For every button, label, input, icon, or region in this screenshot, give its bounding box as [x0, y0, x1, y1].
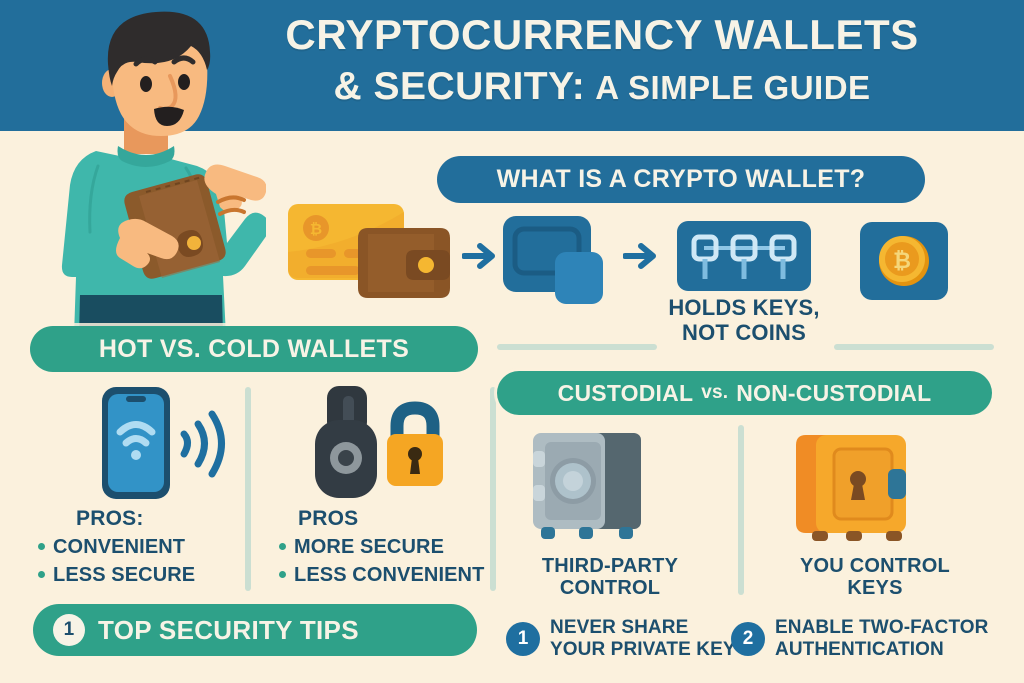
divider-vertical-custodial [738, 425, 744, 595]
cold-wallet-bullet-1: MORE SECURE [277, 533, 484, 561]
smartphone-wifi-icon [94, 385, 234, 501]
section-heading-top-security-tips: 1 TOP SECURITY TIPS [33, 604, 477, 656]
custodial-heading-part1: CUSTODIAL [558, 380, 694, 407]
divider-vertical-hot-cold [245, 387, 251, 591]
holds-keys-caption-line1: HOLDS KEYS, [632, 296, 856, 321]
security-tip-2-line1: ENABLE TWO-FACTOR [775, 617, 989, 639]
divider-horizontal-left [497, 344, 657, 350]
security-tip-2: 2 ENABLE TWO-FACTOR AUTHENTICATION [731, 617, 989, 661]
you-control-caption-line1: YOU CONTROL [780, 555, 970, 577]
svg-text:₿: ₿ [310, 221, 322, 238]
third-party-control-caption: THIRD-PARTY CONTROL [520, 555, 700, 600]
security-tip-1-badge: 1 [506, 622, 540, 656]
security-tip-1-line1: NEVER SHARE [550, 617, 736, 639]
custodial-heading-part2: NON-CUSTODIAL [736, 380, 931, 407]
page-title: CRYPTOCURRENCY WALLETS & SECURITY:A SIMP… [222, 14, 982, 106]
security-tip-1-text: NEVER SHARE YOUR PRIVATE KEY [550, 617, 736, 661]
divider-vertical-hotcold-custodial [490, 387, 496, 591]
grey-safe-icon [527, 427, 651, 541]
cold-wallet-pros-list: MORE SECURE LESS CONVENIENT [277, 533, 484, 590]
tips-heading-label: TOP SECURITY TIPS [98, 615, 359, 646]
security-tip-1-line2: YOUR PRIVATE KEY [550, 639, 736, 661]
security-tip-2-text: ENABLE TWO-FACTOR AUTHENTICATION [775, 617, 989, 661]
section-heading-what-is-a-crypto-wallet: WHAT IS A CRYPTO WALLET? [437, 156, 925, 203]
cold-wallet-pros-label: PROS [298, 507, 358, 531]
what-is-heading-label: WHAT IS A CRYPTO WALLET? [497, 165, 866, 194]
title-line-2-bold: & SECURITY: [333, 65, 585, 108]
cold-wallet-bullet-2: LESS CONVENIENT [277, 561, 484, 589]
arrow-right-icon-1 [462, 240, 498, 272]
third-party-caption-line1: THIRD-PARTY [520, 555, 700, 577]
holds-keys-caption-line2: NOT COINS [632, 321, 856, 346]
credit-card-and-wallet-icon-group: ₿ [286, 192, 456, 302]
you-control-keys-caption: YOU CONTROL KEYS [780, 555, 970, 600]
hardware-wallet-padlock-icon [305, 386, 455, 498]
arrow-right-icon-2 [623, 240, 659, 272]
divider-horizontal-right [834, 344, 994, 350]
third-party-caption-line2: CONTROL [520, 577, 700, 599]
svg-text:₿: ₿ [893, 248, 911, 273]
section-heading-custodial-vs-non-custodial: CUSTODIAL vs. NON-CUSTODIAL [497, 371, 992, 415]
tips-heading-badge: 1 [53, 614, 85, 646]
devices-icon [503, 216, 613, 312]
orange-safe-icon [790, 427, 920, 541]
security-tip-1: 1 NEVER SHARE YOUR PRIVATE KEY [506, 617, 736, 661]
gold-coin-icon: ₿ [860, 222, 948, 300]
custodial-heading-vs: vs. [701, 382, 728, 404]
blockchain-keys-icon [677, 221, 811, 291]
holds-keys-caption: HOLDS KEYS, NOT COINS [632, 296, 856, 345]
hot-wallet-bullet-1: CONVENIENT [36, 533, 195, 561]
you-control-caption-line2: KEYS [780, 577, 970, 599]
hot-wallet-pros-list: CONVENIENT LESS SECURE [36, 533, 195, 590]
hot-cold-heading-label: HOT VS. COLD WALLETS [99, 335, 409, 364]
title-line-1: CRYPTOCURRENCY WALLETS [222, 14, 982, 56]
title-line-2-small: A SIMPLE GUIDE [595, 69, 870, 106]
hot-wallet-pros-label: PROS: [76, 507, 144, 531]
hot-wallet-bullet-2: LESS SECURE [36, 561, 195, 589]
section-heading-hot-vs-cold-wallets: HOT VS. COLD WALLETS [30, 326, 478, 372]
title-line-2: & SECURITY:A SIMPLE GUIDE [222, 67, 982, 106]
security-tip-2-badge: 2 [731, 622, 765, 656]
security-tip-2-line2: AUTHENTICATION [775, 639, 989, 661]
infographic-poster: CRYPTOCURRENCY WALLETS & SECURITY:A SIMP… [0, 0, 1024, 683]
presenter-character-illustration [36, 6, 266, 336]
